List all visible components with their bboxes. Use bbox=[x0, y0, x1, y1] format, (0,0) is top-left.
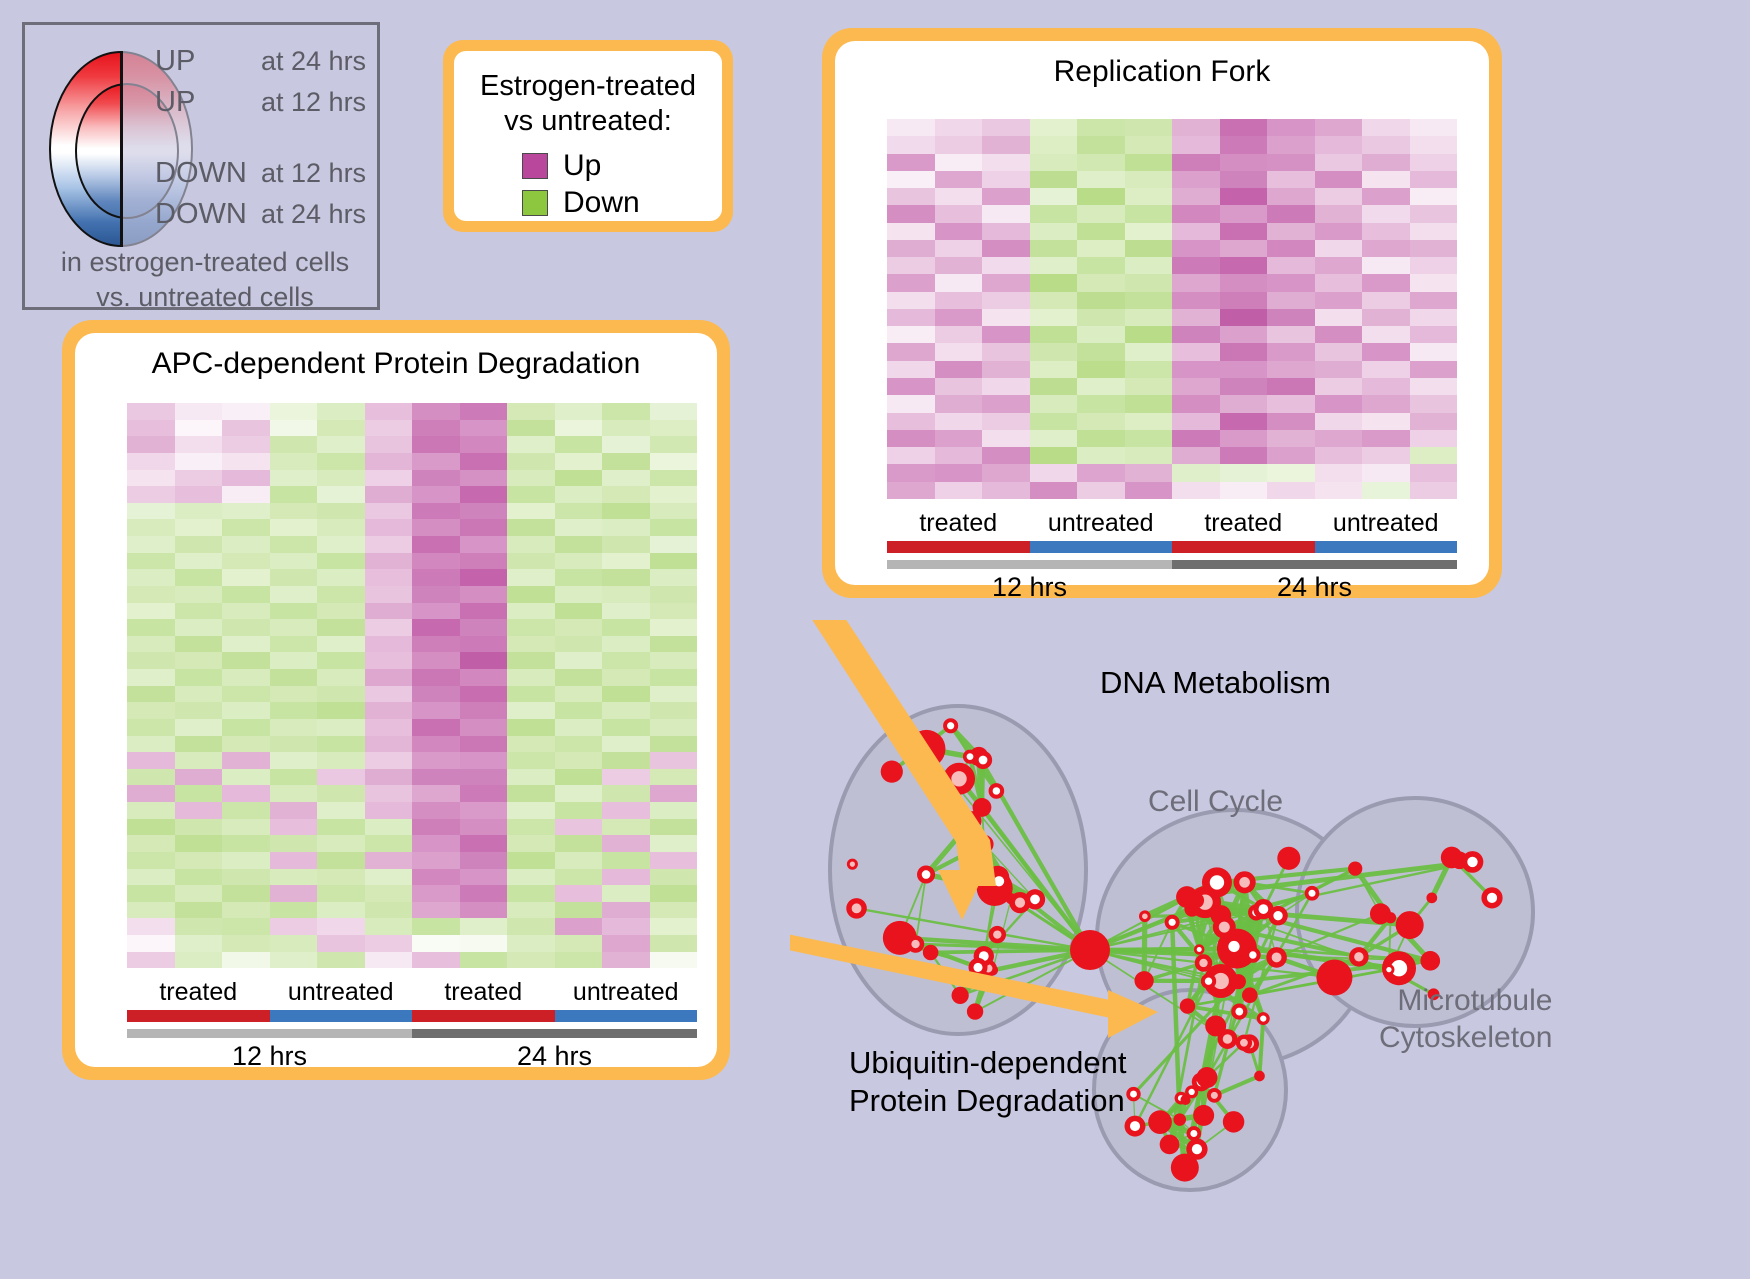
heatmap-cell bbox=[1220, 326, 1268, 343]
heatmap-cell bbox=[1077, 343, 1125, 360]
network-node[interactable] bbox=[1180, 998, 1195, 1013]
heatmap-cell bbox=[412, 869, 460, 886]
network-node-core bbox=[1130, 1121, 1140, 1131]
heatmap-cell bbox=[555, 852, 603, 869]
network-node[interactable] bbox=[1223, 1111, 1245, 1133]
network-node-core bbox=[967, 753, 974, 760]
dial-row-value: at 24 hrs bbox=[261, 46, 366, 77]
heatmap-cell bbox=[365, 619, 413, 636]
heatmap-cell bbox=[935, 447, 983, 464]
network-node-core bbox=[1142, 913, 1148, 919]
network-node[interactable] bbox=[1196, 1067, 1217, 1088]
heatmap-cell bbox=[507, 453, 555, 470]
heatmap-cell bbox=[1172, 326, 1220, 343]
heatmap-cell bbox=[460, 736, 508, 753]
network-node[interactable] bbox=[1185, 1085, 1198, 1098]
heatmap-cell bbox=[1077, 205, 1125, 222]
heatmap-cell bbox=[317, 736, 365, 753]
heatmap-cell bbox=[175, 420, 223, 437]
network-node-core bbox=[1210, 875, 1224, 889]
heatmap-cell bbox=[412, 852, 460, 869]
axis-group-bars bbox=[127, 1010, 697, 1022]
heatmap-cell bbox=[460, 636, 508, 653]
heatmap-cell bbox=[317, 436, 365, 453]
heatmap-cell bbox=[1172, 464, 1220, 481]
heatmap-cell bbox=[175, 852, 223, 869]
heatmap-cell bbox=[365, 885, 413, 902]
heatmap-cell bbox=[317, 470, 365, 487]
heatmap-cell bbox=[1077, 361, 1125, 378]
network-node[interactable] bbox=[1348, 861, 1362, 875]
heatmap-cell bbox=[412, 769, 460, 786]
heatmap-cell bbox=[1125, 447, 1173, 464]
heatmap-cell bbox=[935, 378, 983, 395]
heatmap-row bbox=[127, 935, 697, 952]
heatmap-cell bbox=[317, 536, 365, 553]
heatmap-cell bbox=[555, 403, 603, 420]
heatmap-cell bbox=[1077, 223, 1125, 240]
heatmap-cell bbox=[555, 436, 603, 453]
heatmap-cell bbox=[317, 636, 365, 653]
heatmap-cell bbox=[270, 769, 318, 786]
heatmap-cell bbox=[127, 918, 175, 935]
heatmap-cell bbox=[1077, 430, 1125, 447]
heatmap-cell bbox=[602, 553, 650, 570]
heatmap-cell bbox=[982, 154, 1030, 171]
heatmap-cell bbox=[650, 686, 698, 703]
heatmap-row bbox=[127, 519, 697, 536]
heatmap-cell bbox=[887, 482, 935, 499]
heatmap-cell bbox=[127, 403, 175, 420]
heatmap-cell bbox=[460, 769, 508, 786]
heatmap-cell bbox=[270, 453, 318, 470]
network-node[interactable] bbox=[847, 859, 858, 870]
network-node[interactable] bbox=[1202, 867, 1232, 897]
heatmap-cell bbox=[222, 519, 270, 536]
network-node[interactable] bbox=[1125, 1116, 1146, 1137]
heatmap-row bbox=[887, 361, 1457, 378]
heatmap-cell bbox=[935, 482, 983, 499]
heatmap-cell bbox=[1315, 154, 1363, 171]
heatmap-cell bbox=[460, 835, 508, 852]
network-node[interactable] bbox=[963, 750, 977, 764]
network-node[interactable] bbox=[1213, 916, 1236, 939]
heatmap-cell bbox=[602, 835, 650, 852]
heatmap-cell bbox=[507, 669, 555, 686]
heatmap-cell bbox=[650, 503, 698, 520]
heatmap-cell bbox=[1125, 395, 1173, 412]
network-node[interactable] bbox=[1173, 1113, 1186, 1126]
heatmap-cell bbox=[650, 902, 698, 919]
network-node[interactable] bbox=[1266, 947, 1287, 968]
heatmap-cell bbox=[127, 819, 175, 836]
heatmap-cell bbox=[935, 343, 983, 360]
network-node[interactable] bbox=[1194, 944, 1204, 954]
heatmap-cell bbox=[1220, 257, 1268, 274]
heatmap-cell bbox=[460, 802, 508, 819]
network-node[interactable] bbox=[1426, 892, 1437, 903]
heatmap-cell bbox=[270, 785, 318, 802]
heatmap-cell bbox=[1077, 413, 1125, 430]
heatmap-cell bbox=[1410, 395, 1458, 412]
heatmap-cell bbox=[175, 918, 223, 935]
heatmap-cell bbox=[982, 205, 1030, 222]
network-node[interactable] bbox=[1188, 892, 1204, 908]
heatmap-cell bbox=[365, 852, 413, 869]
network-node-core bbox=[1273, 911, 1282, 920]
network-node[interactable] bbox=[1231, 974, 1246, 989]
heatmap-cell bbox=[1172, 240, 1220, 257]
heatmap-row bbox=[127, 503, 697, 520]
heatmap-cell bbox=[602, 470, 650, 487]
heatmap-row bbox=[127, 636, 697, 653]
heatmap-cell bbox=[602, 902, 650, 919]
network-node[interactable] bbox=[1187, 1126, 1202, 1141]
heatmap-cell bbox=[935, 274, 983, 291]
heatmap-cell bbox=[1077, 378, 1125, 395]
heatmap-cell bbox=[222, 769, 270, 786]
heatmap-cell bbox=[650, 952, 698, 969]
network-node[interactable] bbox=[1193, 1105, 1214, 1126]
heatmap-cell bbox=[460, 436, 508, 453]
network-node[interactable] bbox=[1126, 1087, 1140, 1101]
heatmap-cell bbox=[650, 453, 698, 470]
heatmap-cell bbox=[127, 719, 175, 736]
heatmap-cell bbox=[935, 205, 983, 222]
network-node[interactable] bbox=[1234, 871, 1256, 893]
network-node[interactable] bbox=[1201, 974, 1216, 989]
heatmap-row bbox=[887, 205, 1457, 222]
heatmap-cell bbox=[1077, 482, 1125, 499]
heatmap-cell bbox=[127, 952, 175, 969]
heatmap-row bbox=[127, 819, 697, 836]
heatmap-cell bbox=[555, 819, 603, 836]
heatmap-cell bbox=[602, 519, 650, 536]
dial-legend-footer: in estrogen-treated cells vs. untreated … bbox=[35, 245, 375, 314]
heatmap-cell bbox=[175, 503, 223, 520]
network-node[interactable] bbox=[1481, 887, 1502, 908]
heatmap-cell bbox=[555, 636, 603, 653]
heatmap-cell bbox=[935, 464, 983, 481]
heatmap-cell bbox=[127, 519, 175, 536]
network-node[interactable] bbox=[989, 783, 1005, 799]
network-node[interactable] bbox=[1316, 960, 1352, 996]
heatmap-row bbox=[887, 309, 1457, 326]
heatmap-row bbox=[127, 885, 697, 902]
heatmap-cell bbox=[175, 569, 223, 586]
heatmap-cell bbox=[1077, 154, 1125, 171]
heatmap-cell bbox=[1125, 378, 1173, 395]
network-node[interactable] bbox=[1070, 930, 1110, 970]
heatmap-cell bbox=[317, 835, 365, 852]
heatmap-cell bbox=[650, 652, 698, 669]
heatmap-cell bbox=[1315, 205, 1363, 222]
network-node[interactable] bbox=[1134, 971, 1153, 990]
axis-group-bars bbox=[887, 541, 1457, 553]
network-node[interactable] bbox=[974, 751, 992, 769]
heatmap-cell bbox=[507, 719, 555, 736]
heatmap-cell bbox=[507, 819, 555, 836]
cluster-label-cell-cycle: Cell Cycle bbox=[1148, 784, 1283, 821]
heatmap-cell bbox=[460, 719, 508, 736]
panel-apc-dependent: APC-dependent Protein Degradation treate… bbox=[62, 320, 730, 1080]
network-node[interactable] bbox=[846, 898, 867, 919]
heatmap-cell bbox=[317, 686, 365, 703]
heatmap-cell bbox=[555, 569, 603, 586]
dial-row: DOWN at 12 hrs bbox=[155, 157, 385, 198]
heatmap-cell bbox=[1030, 361, 1078, 378]
heatmap-cell bbox=[1410, 188, 1458, 205]
heatmap-cell bbox=[555, 536, 603, 553]
heatmap-cell bbox=[365, 686, 413, 703]
heatmap-cell bbox=[1267, 464, 1315, 481]
heatmap-cell bbox=[1267, 326, 1315, 343]
heatmap-cell bbox=[460, 503, 508, 520]
heatmap-cell bbox=[507, 436, 555, 453]
heatmap-cell bbox=[127, 752, 175, 769]
heatmap-cell bbox=[1410, 326, 1458, 343]
heatmap-cell bbox=[1220, 119, 1268, 136]
network-node[interactable] bbox=[923, 945, 939, 961]
heatmap-cell bbox=[1172, 188, 1220, 205]
network-node[interactable] bbox=[1205, 1015, 1226, 1036]
heatmap-row bbox=[887, 395, 1457, 412]
heatmap-cell bbox=[317, 420, 365, 437]
heatmap-row bbox=[887, 464, 1457, 481]
heatmap-cell bbox=[887, 326, 935, 343]
heatmap-cell bbox=[1220, 240, 1268, 257]
network-node[interactable] bbox=[1186, 1138, 1207, 1159]
network-node[interactable] bbox=[907, 935, 924, 952]
heatmap-cell bbox=[935, 413, 983, 430]
network-node[interactable] bbox=[1385, 912, 1396, 923]
network-node[interactable] bbox=[1231, 1003, 1247, 1019]
heatmap-cell bbox=[412, 436, 460, 453]
dial-row: DOWN at 24 hrs bbox=[155, 198, 385, 239]
network-node-core bbox=[911, 940, 919, 948]
heatmap-cell bbox=[602, 752, 650, 769]
heatmap-cell bbox=[222, 619, 270, 636]
heatmap-cell bbox=[1315, 413, 1363, 430]
heatmap-cell bbox=[412, 736, 460, 753]
network-node[interactable] bbox=[1242, 987, 1258, 1003]
axis-time-bars bbox=[887, 560, 1457, 569]
panel-title-apc-dependent: APC-dependent Protein Degradation bbox=[75, 333, 717, 381]
network-node[interactable] bbox=[917, 865, 935, 883]
heatmap-cell bbox=[1315, 223, 1363, 240]
network-node[interactable] bbox=[1462, 851, 1484, 873]
heatmap-cell bbox=[1315, 309, 1363, 326]
network-node[interactable] bbox=[1025, 889, 1045, 909]
heatmap-cell bbox=[650, 519, 698, 536]
network-node-core bbox=[1239, 877, 1250, 888]
heatmap-cell bbox=[1315, 447, 1363, 464]
heatmap-cell bbox=[412, 470, 460, 487]
heatmap-cell bbox=[270, 952, 318, 969]
heatmap-cell bbox=[982, 171, 1030, 188]
heatmap-cell bbox=[1315, 188, 1363, 205]
network-node[interactable] bbox=[881, 761, 903, 783]
network-node[interactable] bbox=[952, 987, 969, 1004]
network-node[interactable] bbox=[1253, 899, 1273, 919]
heatmap-cell bbox=[317, 852, 365, 869]
heatmap-cell bbox=[1030, 309, 1078, 326]
heatmap-cell bbox=[650, 569, 698, 586]
network-node[interactable] bbox=[1349, 947, 1369, 967]
heatmap-cell bbox=[365, 553, 413, 570]
heatmap-cell bbox=[935, 154, 983, 171]
heatmap-cell bbox=[507, 619, 555, 636]
heatmap-cell bbox=[982, 413, 1030, 430]
heatmap-cell bbox=[270, 536, 318, 553]
heatmap-cell bbox=[555, 769, 603, 786]
heatmap-cell bbox=[935, 361, 983, 378]
network-node-core bbox=[850, 862, 855, 867]
heatmap-cell bbox=[127, 553, 175, 570]
heatmap-cell bbox=[982, 292, 1030, 309]
heatmap-cell bbox=[460, 603, 508, 620]
heatmap-cell bbox=[365, 669, 413, 686]
heatmap-cell bbox=[1125, 136, 1173, 153]
heatmap-cell bbox=[602, 952, 650, 969]
network-node[interactable] bbox=[1195, 954, 1212, 971]
heatmap-cell bbox=[270, 802, 318, 819]
heatmap-cell bbox=[412, 885, 460, 902]
heatmap-cell bbox=[175, 553, 223, 570]
heatmap-cell bbox=[365, 470, 413, 487]
heatmap-cell bbox=[175, 619, 223, 636]
heatmap-cell bbox=[1125, 309, 1173, 326]
heatmap-cell bbox=[222, 569, 270, 586]
heatmap-cell bbox=[317, 553, 365, 570]
network-node[interactable] bbox=[967, 1003, 983, 1019]
heatmap-cell bbox=[602, 603, 650, 620]
heatmap-cell bbox=[1030, 119, 1078, 136]
heatmap-cell bbox=[555, 802, 603, 819]
heatmap-cell bbox=[365, 636, 413, 653]
heatmap-cell bbox=[602, 453, 650, 470]
heatmap-cell bbox=[175, 486, 223, 503]
network-node[interactable] bbox=[1160, 1135, 1180, 1155]
heatmap-cell bbox=[1362, 274, 1410, 291]
heatmap-cell bbox=[555, 503, 603, 520]
color-key-items: Up Down bbox=[468, 148, 708, 222]
heatmap-cell bbox=[650, 636, 698, 653]
network-node[interactable] bbox=[1254, 1071, 1265, 1082]
heatmap-cell bbox=[935, 223, 983, 240]
heatmap-cell bbox=[1077, 447, 1125, 464]
dial-center-axis bbox=[120, 51, 123, 247]
heatmap-cell bbox=[935, 188, 983, 205]
heatmap-cell bbox=[317, 569, 365, 586]
heatmap-cell bbox=[887, 274, 935, 291]
heatmap-cell bbox=[935, 430, 983, 447]
heatmap-cell bbox=[602, 736, 650, 753]
heatmap-cell bbox=[127, 702, 175, 719]
heatmap-cell bbox=[555, 652, 603, 669]
network-node-core bbox=[1272, 952, 1282, 962]
heatmap-cell bbox=[1267, 119, 1315, 136]
heatmap-cell bbox=[1410, 154, 1458, 171]
network-node-core bbox=[922, 870, 931, 879]
heatmap-cell bbox=[222, 918, 270, 935]
heatmap-cell bbox=[507, 636, 555, 653]
network-node[interactable] bbox=[1207, 1088, 1222, 1103]
heatmap-row bbox=[127, 785, 697, 802]
heatmap-cell bbox=[1410, 274, 1458, 291]
heatmap-cell bbox=[1125, 205, 1173, 222]
network-node[interactable] bbox=[1396, 911, 1424, 939]
heatmap-cell bbox=[507, 785, 555, 802]
dial-row-value: at 24 hrs bbox=[261, 199, 366, 230]
network-node-core bbox=[947, 722, 954, 729]
network-node[interactable] bbox=[1305, 886, 1320, 901]
heatmap-cell bbox=[317, 902, 365, 919]
heatmap-cell bbox=[412, 802, 460, 819]
network-node-core bbox=[852, 903, 862, 913]
heatmap-row bbox=[127, 586, 697, 603]
network-node[interactable] bbox=[1257, 1012, 1270, 1025]
heatmap-row bbox=[887, 482, 1457, 499]
heatmap-cell bbox=[222, 902, 270, 919]
network-node[interactable] bbox=[1165, 915, 1180, 930]
heatmap-cell bbox=[935, 326, 983, 343]
heatmap-cell bbox=[1267, 447, 1315, 464]
network-node-core bbox=[1192, 1144, 1202, 1154]
network-node[interactable] bbox=[1236, 1035, 1252, 1051]
heatmap-cell bbox=[1362, 205, 1410, 222]
heatmap-cell bbox=[1030, 171, 1078, 188]
network-node[interactable] bbox=[1441, 847, 1463, 869]
heatmap-row bbox=[127, 436, 697, 453]
heatmap-cell bbox=[270, 486, 318, 503]
heatmap-cell bbox=[650, 802, 698, 819]
heatmap-cell bbox=[1030, 464, 1078, 481]
heatmap-cell bbox=[412, 719, 460, 736]
heatmap-cell bbox=[1125, 361, 1173, 378]
heatmap-cell bbox=[1410, 171, 1458, 188]
heatmap-cell bbox=[365, 503, 413, 520]
heatmap-cell bbox=[1362, 482, 1410, 499]
heatmap-cell bbox=[555, 885, 603, 902]
heatmap-cell bbox=[1315, 171, 1363, 188]
axis-time-bar bbox=[412, 1029, 697, 1038]
heatmap-cell bbox=[365, 652, 413, 669]
heatmap-cell bbox=[1030, 395, 1078, 412]
heatmap-row bbox=[127, 686, 697, 703]
heatmap-cell bbox=[1077, 292, 1125, 309]
network-node[interactable] bbox=[943, 718, 958, 733]
network-node[interactable] bbox=[1420, 951, 1440, 971]
network-node[interactable] bbox=[1277, 847, 1300, 870]
heatmap-cell bbox=[175, 752, 223, 769]
heatmap-cell bbox=[1410, 205, 1458, 222]
heatmap-cell bbox=[412, 536, 460, 553]
heatmap-row bbox=[127, 902, 697, 919]
heatmap-cell bbox=[1125, 464, 1173, 481]
heatmap-cell bbox=[365, 719, 413, 736]
network-node[interactable] bbox=[989, 926, 1006, 943]
heatmap-cell bbox=[1410, 361, 1458, 378]
figure-root: UP at 24 hrs UP at 12 hrs DOWN at 12 hrs… bbox=[0, 0, 1750, 1279]
network-node[interactable] bbox=[1148, 1110, 1172, 1134]
network-node[interactable] bbox=[1139, 910, 1151, 922]
heatmap-cell bbox=[1315, 430, 1363, 447]
heatmap-cell bbox=[175, 869, 223, 886]
heatmap-cell bbox=[555, 470, 603, 487]
heatmap-cell bbox=[1125, 482, 1173, 499]
network-node[interactable] bbox=[1383, 964, 1394, 975]
